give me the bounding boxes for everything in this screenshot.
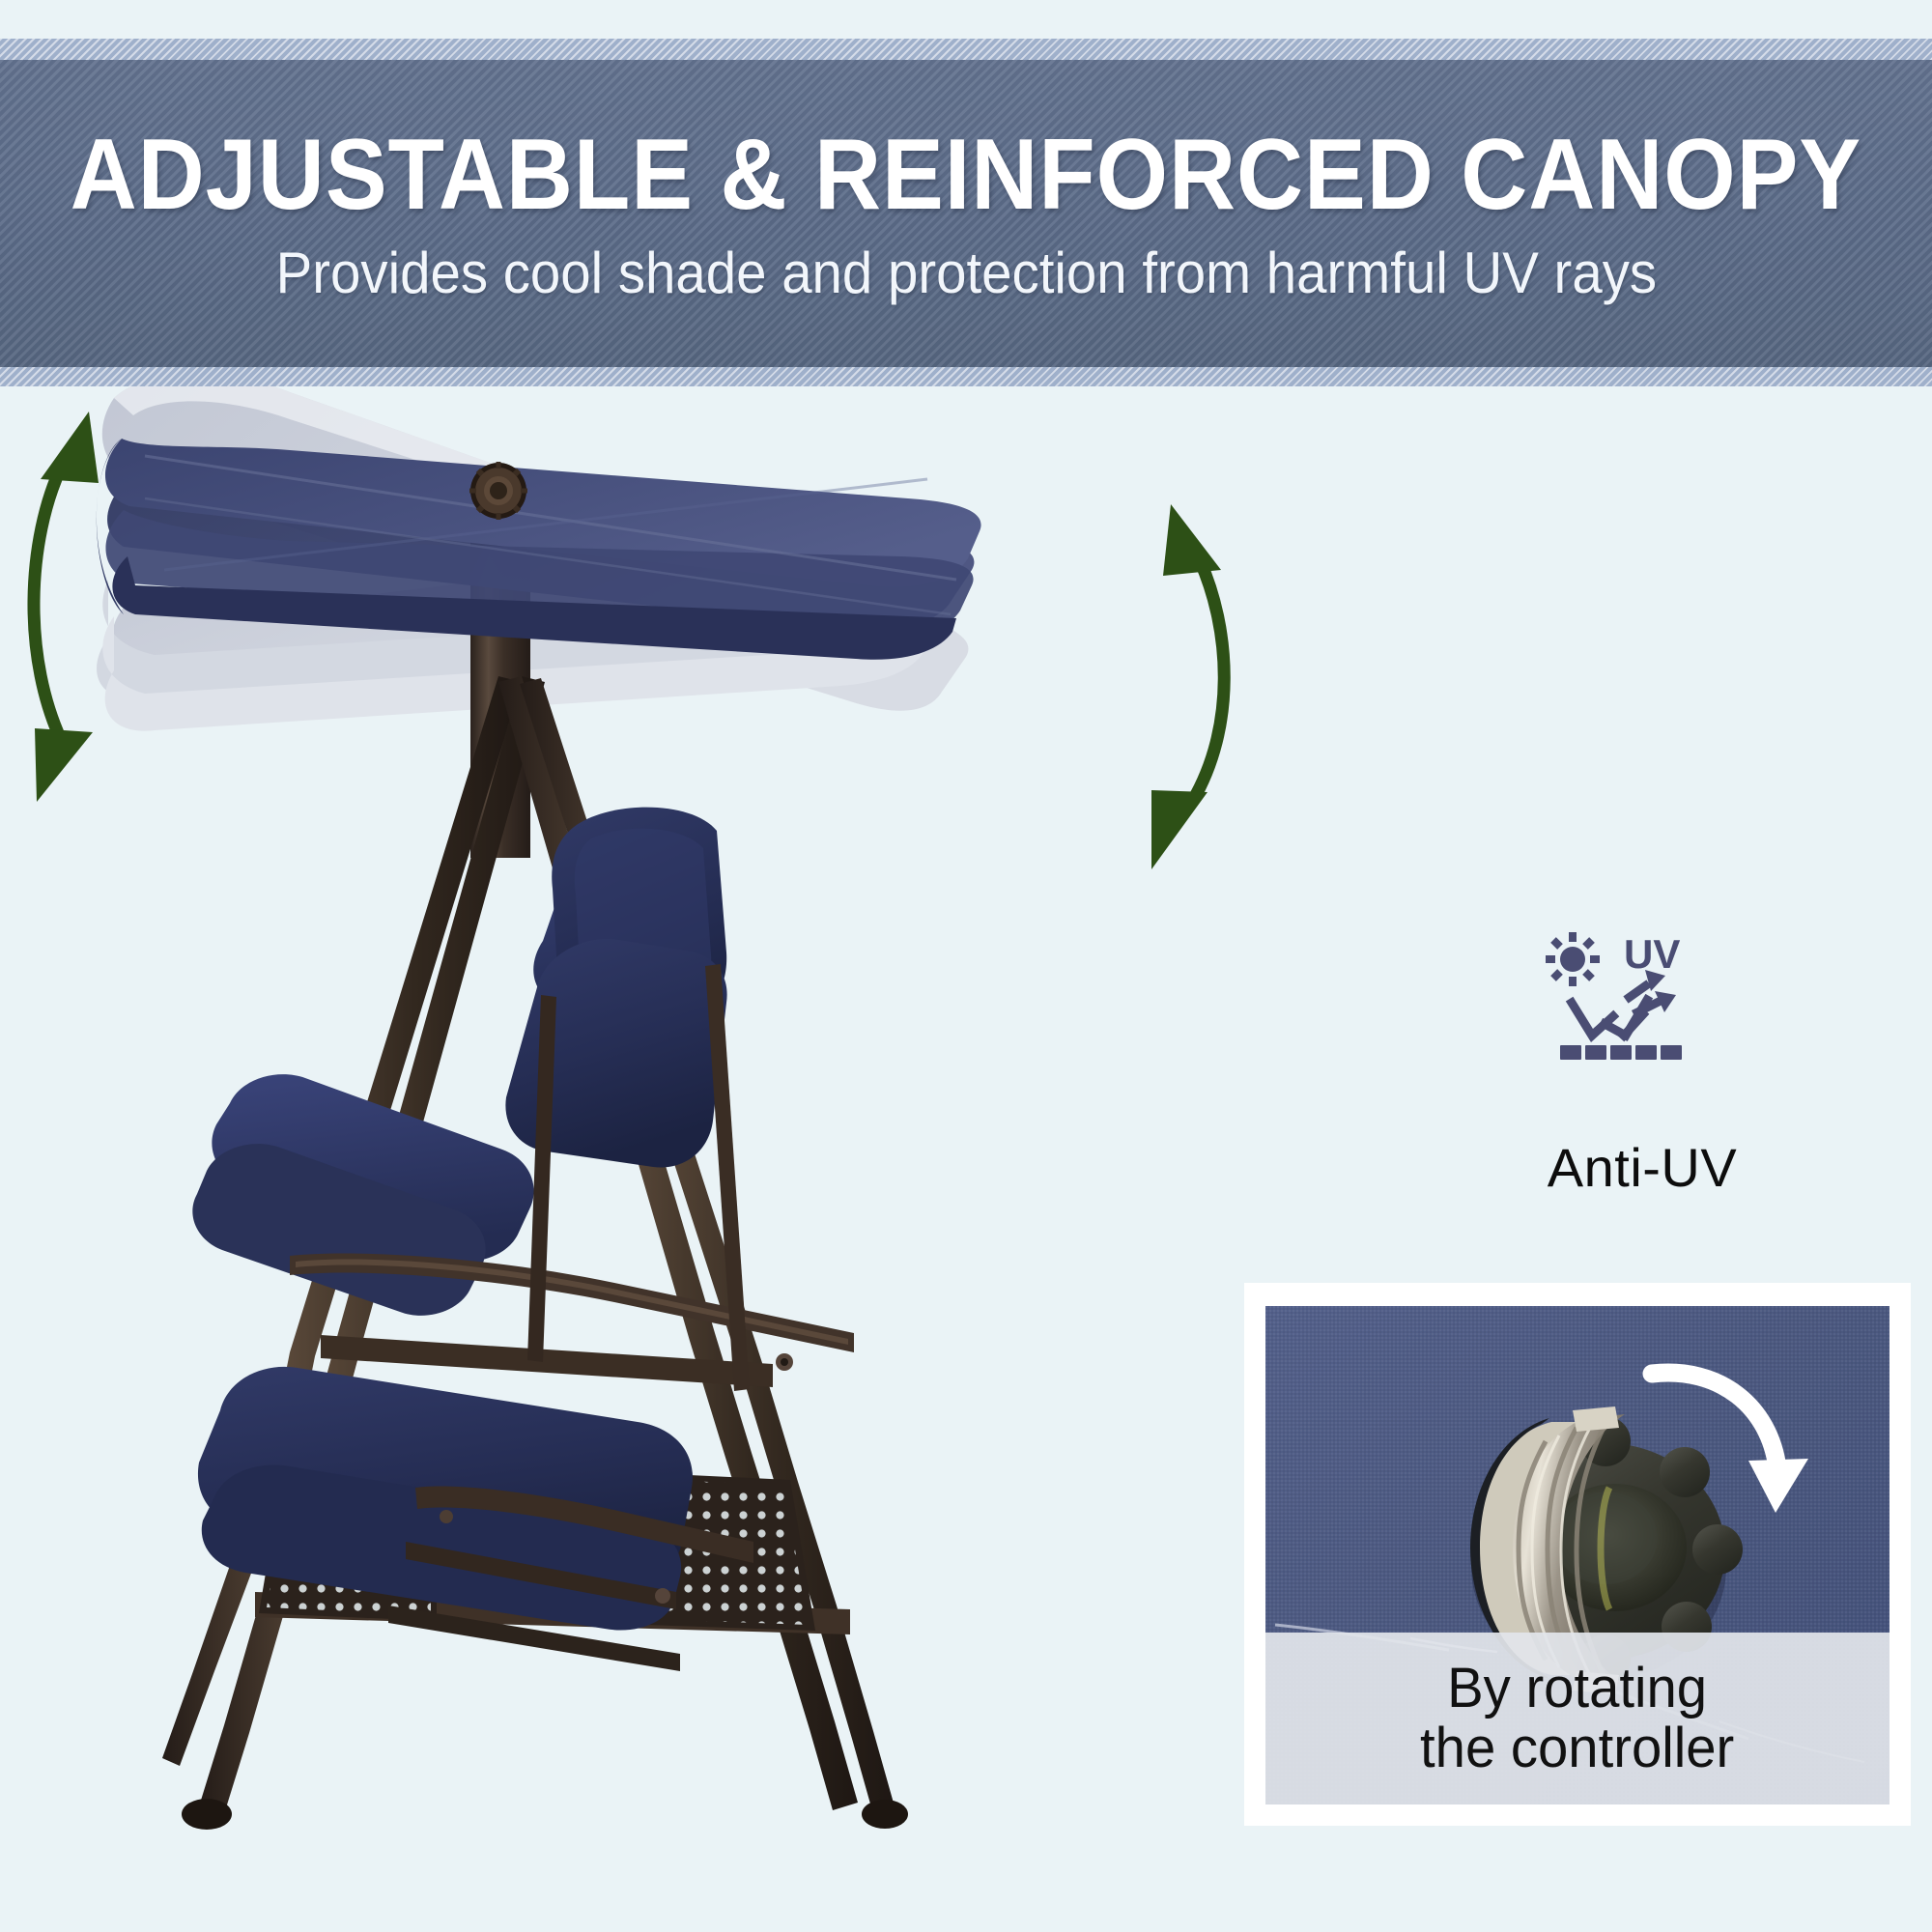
infographic-canvas: ADJUSTABLE & REINFORCED CANOPY Provides …: [0, 0, 1932, 1932]
caption-line-2: the controller: [1420, 1719, 1734, 1778]
banner-body: ADJUSTABLE & REINFORCED CANOPY Provides …: [0, 60, 1932, 367]
uv-text: UV: [1624, 931, 1680, 977]
anti-uv-label: Anti-UV: [1548, 1141, 1737, 1195]
anti-uv-feature: UV: [1449, 927, 1835, 1246]
knob-callout-photo: By rotating the controller: [1265, 1306, 1889, 1804]
canopy-tilt-arrow-left: [34, 412, 99, 802]
product-photo: [0, 386, 1352, 1932]
caption-line-1: By rotating: [1448, 1659, 1708, 1719]
page-subtitle: Provides cool shade and protection from …: [275, 244, 1656, 302]
anti-uv-icon: UV: [1531, 927, 1753, 1106]
knob-callout-caption: By rotating the controller: [1265, 1633, 1889, 1804]
banner-top-edge-stripe: [0, 39, 1932, 60]
canopy-tilt-arrow-right: [1151, 504, 1224, 869]
page-title: ADJUSTABLE & REINFORCED CANOPY: [71, 125, 1861, 225]
banner-bottom-edge-stripe: [0, 367, 1932, 386]
header-banner: ADJUSTABLE & REINFORCED CANOPY Provides …: [0, 39, 1932, 386]
canopy-knob-icon: [469, 462, 527, 520]
knob-callout-panel: By rotating the controller: [1244, 1283, 1911, 1826]
